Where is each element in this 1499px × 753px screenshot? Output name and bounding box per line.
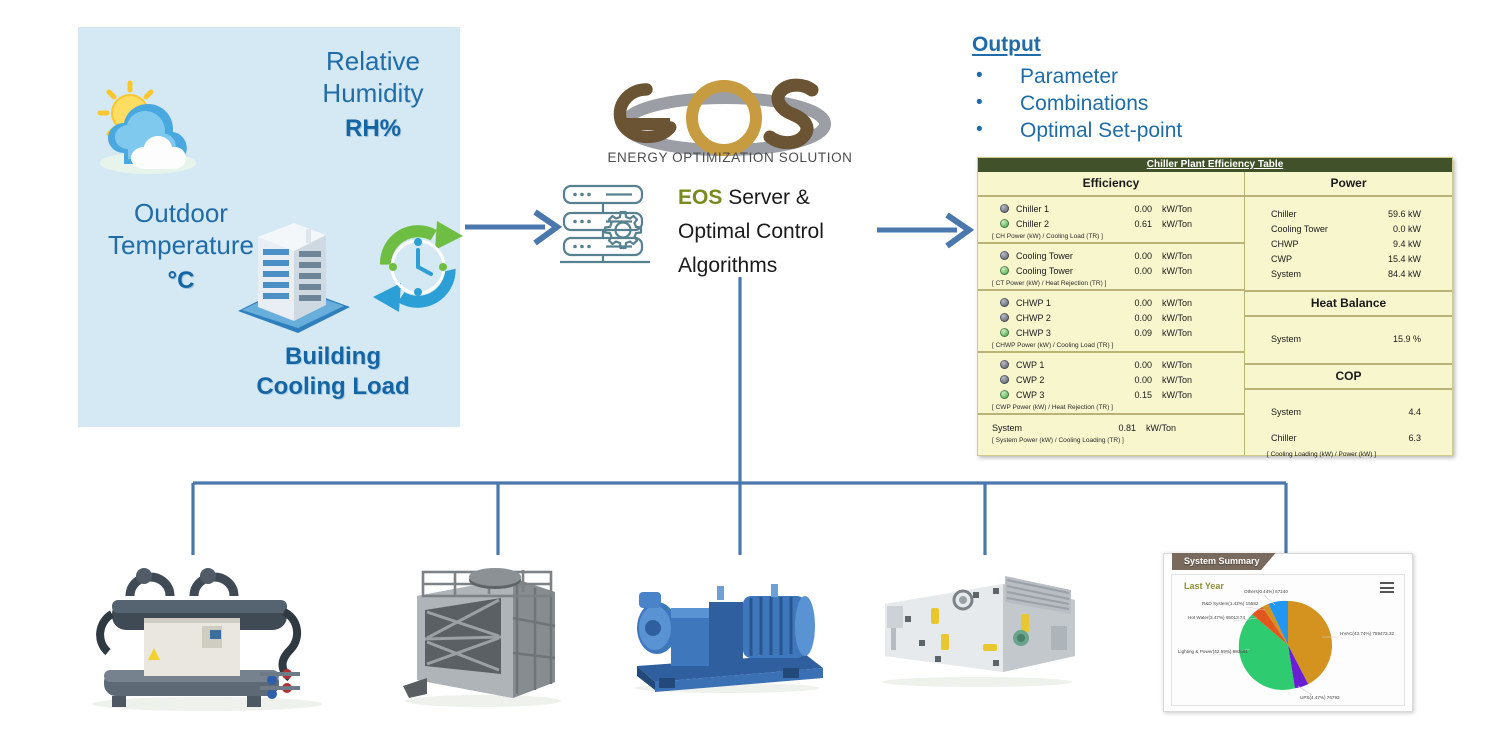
row-value: 9.4 kW [1359,239,1421,249]
output-list: Parameter Combinations Optimal Set-point [972,63,1272,144]
table-row: Chiller 59.6 kW [1245,206,1452,221]
status-led-off-icon [1000,204,1009,213]
air-handling-unit-photo [875,570,1080,690]
status-led-on-icon [1000,219,1009,228]
pie-slices [1239,601,1332,690]
dashboard-panel: Last Year [1171,574,1405,706]
row-value: 0.61 [1116,219,1152,229]
system-summary-tab[interactable]: System Summary [1172,553,1276,570]
output-block: Output Parameter Combinations Optimal Se… [972,33,1272,144]
outdoor-temperature-label: OutdoorTemperature [86,197,276,261]
efficiency-group-chiller: Chiller 1 0.00 kW/Ton Chiller 2 0.61 kW/… [978,197,1244,244]
connector-bus [0,255,1499,575]
arrow-input-to-server-icon [463,205,573,249]
table-row: Chiller 2 0.61 kW/Ton [978,216,1244,231]
table-row: CHWP 9.4 kW [1245,236,1452,251]
energy-breakdown-pie-chart: HVAC(43.74%) 759473.32 Lighting & Power(… [1172,585,1404,705]
row-label: Chiller 1 [1016,204,1116,214]
diagram-canvas: RelativeHumidity RH% OutdoorTemperature … [0,0,1499,753]
row-label: CHWP [1271,239,1359,249]
row-unit: kW/Ton [1152,219,1192,229]
eos-logo-icon [600,62,850,162]
eos-server-label-line2: Optimal Control [678,220,824,243]
pie-label-ups: UPS(4.47%) 76793 [1300,695,1340,700]
table-row: Chiller 1 0.00 kW/Ton [978,201,1244,216]
cooling-tower-photo [395,558,570,708]
arrow-server-to-output-icon [875,208,985,252]
row-label: Cooling Tower [1271,224,1359,234]
row-value: 0.00 [1116,204,1152,214]
output-item-combinations: Combinations [972,90,1272,117]
output-title: Output [972,33,1272,57]
pie-label-hotwater: Hot Water(3.47%) 65013.74 [1188,615,1245,620]
eos-server-label-strong: EOS [678,186,722,209]
row-value: 0.0 kW [1359,224,1421,234]
server-gear-icon [558,180,658,265]
row-label: Chiller [1271,209,1359,219]
pie-label-hvac: HVAC(43.74%) 759473.32 [1340,631,1394,636]
output-item-parameter: Parameter [972,63,1272,90]
efficiency-heading: Efficiency [978,172,1244,197]
row-unit: kW/Ton [1152,204,1192,214]
relative-humidity-label: RelativeHumidity [293,45,453,109]
eos-server-label-rest: Server & [722,186,810,209]
table-title: Chiller Plant Efficiency Table [978,158,1452,172]
sun-cloud-icon [88,75,218,185]
relative-humidity-unit: RH% [293,115,453,143]
table-row: Cooling Tower 0.0 kW [1245,221,1452,236]
eos-tagline: ENERGY OPTIMIZATION SOLUTION [585,150,875,165]
row-value: 59.6 kW [1359,209,1421,219]
pie-label-lighting: Lighting & Power(42.59%) 683561 [1178,649,1248,654]
pie-label-rnd: R&D System(1.42%) 15582 [1202,601,1259,606]
group-note: [ CH Power (kW) / Cooling Load (TR) ] [978,231,1244,240]
row-label: Chiller 2 [1016,219,1116,229]
pump-photo [625,570,830,695]
output-item-optimal-setpoint: Optimal Set-point [972,117,1272,144]
pie-label-others: Others(0.44%) 67240 [1244,589,1288,594]
power-heading: Power [1245,172,1452,197]
chiller-photo [82,552,332,712]
